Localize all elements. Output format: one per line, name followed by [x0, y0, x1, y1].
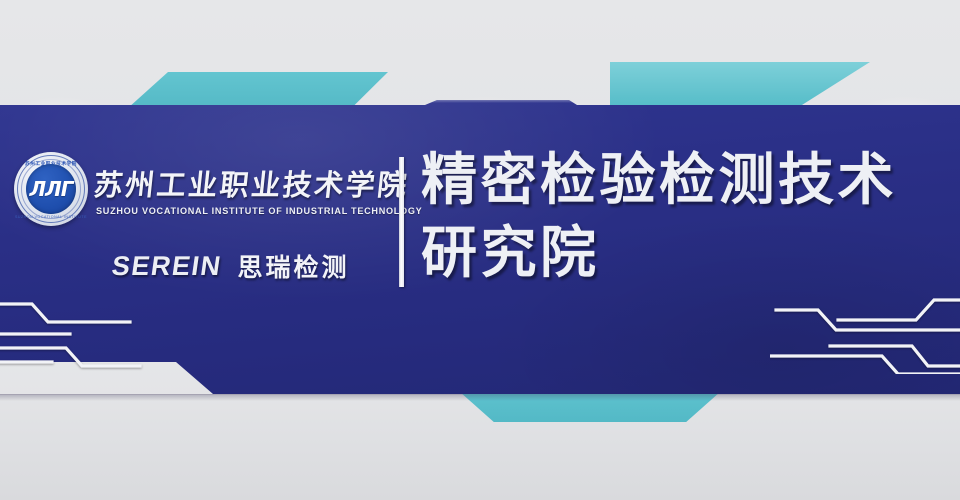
signage-scene: 苏州工业职业技术学院 SUZHOU VOCATIONAL INSTITUTE Л…: [0, 0, 960, 500]
seal-monogram: ЛЛГ: [26, 177, 76, 201]
floor-surface: [0, 395, 960, 500]
teal-accent-bottom-center: [460, 392, 720, 422]
vertical-divider-bar: [399, 157, 404, 287]
headline-line-2: 研究院: [421, 217, 951, 290]
panel-content: 苏州工业职业技术学院 SUZHOU VOCATIONAL INSTITUTE Л…: [0, 100, 960, 394]
seal-core-disc: ЛЛГ: [26, 164, 76, 214]
university-brand-row: 苏州工业职业技术学院 SUZHOU VOCATIONAL INSTITUTE Л…: [14, 152, 394, 226]
university-lockup: 苏州工业职业技术学院 SUZHOU VOCATIONAL INSTITUTE Л…: [14, 152, 394, 226]
company-name-en: SEREIN: [110, 251, 224, 282]
university-name-cn: 苏州工业职业技术学院: [92, 162, 425, 204]
seal-arc-bottom-text: SUZHOU VOCATIONAL INSTITUTE: [14, 215, 88, 219]
headline-block: 精密检验检测技术 研究院: [421, 144, 951, 290]
university-name-block: 苏州工业职业技术学院 SUZHOU VOCATIONAL INSTITUTE O…: [94, 162, 422, 216]
company-lockup: SEREIN 思瑞检测: [112, 248, 350, 284]
company-name-cn: 思瑞检测: [238, 248, 350, 284]
university-seal-icon: 苏州工业职业技术学院 SUZHOU VOCATIONAL INSTITUTE Л…: [14, 152, 88, 226]
university-name-en: SUZHOU VOCATIONAL INSTITUTE OF INDUSTRIA…: [94, 206, 422, 216]
headline-line-1: 精密检验检测技术: [421, 148, 897, 213]
